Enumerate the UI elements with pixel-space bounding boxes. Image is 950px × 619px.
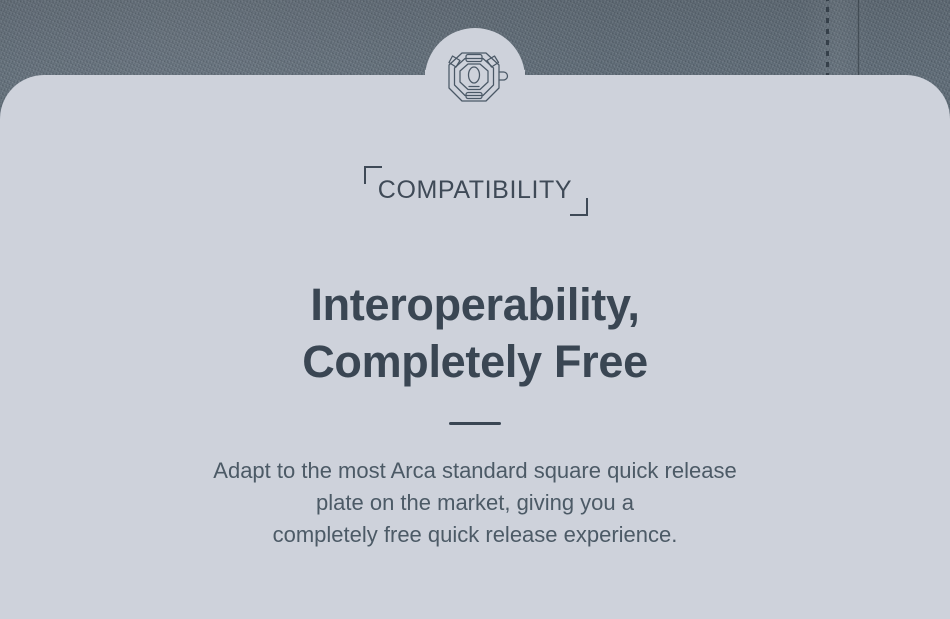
eyebrow-section: COMPATIBILITY <box>0 170 950 210</box>
headline: Interoperability, Completely Free <box>0 276 950 390</box>
card-fillet-left <box>380 75 426 121</box>
section-divider <box>449 422 501 425</box>
headline-line-1: Interoperability, <box>310 279 639 330</box>
corner-bracket-bottom-right-icon <box>570 198 588 216</box>
card-fillet-right <box>520 75 566 121</box>
description-line-3: completely free quick release experience… <box>0 519 950 551</box>
description-line-2: plate on the market, giving you a <box>0 487 950 519</box>
headline-line-2: Completely Free <box>0 333 950 390</box>
product-feature-banner: COMPATIBILITY Interoperability, Complete… <box>0 0 950 619</box>
eyebrow-label: COMPATIBILITY <box>378 170 572 210</box>
description-paragraph: Adapt to the most Arca standard square q… <box>0 455 950 551</box>
description-line-1: Adapt to the most Arca standard square q… <box>0 455 950 487</box>
corner-bracket-top-left-icon <box>364 166 382 184</box>
octagonal-quick-release-plate-icon <box>441 44 510 110</box>
eyebrow-bracket-box: COMPATIBILITY <box>356 170 594 210</box>
